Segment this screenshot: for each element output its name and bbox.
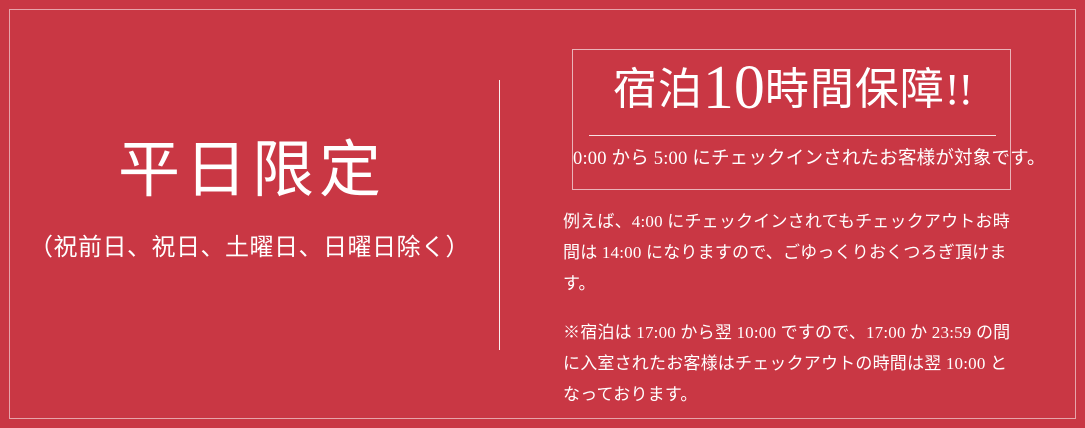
body-paragraph-note: ※宿泊は 17:00 から翌 10:00 ですので、17:00 か 23:59 … [563, 317, 1018, 410]
guarantee-body-copy: 例えば、4:00 にチェックインされてもチェックアウトお時間は 14:00 にな… [563, 206, 1018, 410]
promotion-banner: 平日限定 （祝前日、祝日、土曜日、日曜日除く） 宿泊10時間保障!! 0:00 … [0, 0, 1085, 428]
guarantee-title-exclamation: !! [945, 65, 972, 114]
guarantee-box: 宿泊10時間保障!! 0:00 から 5:00 にチェックインされたお客様が対象… [572, 49, 1011, 190]
guarantee-title-prefix: 宿泊 [613, 65, 703, 114]
guarantee-hours-number: 10 [703, 54, 765, 122]
weekday-heading: 平日限定 [0, 138, 499, 205]
guarantee-title-suffix: 時間保障 [765, 65, 945, 114]
guarantee-title: 宿泊10時間保障!! [573, 54, 1012, 122]
weekday-panel: 平日限定 （祝前日、祝日、土曜日、日曜日除く） [0, 0, 499, 428]
guarantee-divider-rule [589, 135, 996, 136]
weekday-exclusion-note: （祝前日、祝日、土曜日、日曜日除く） [0, 232, 499, 264]
stay-guarantee-panel: 宿泊10時間保障!! 0:00 から 5:00 にチェックインされたお客様が対象… [500, 0, 1085, 428]
body-paragraph-example: 例えば、4:00 にチェックインされてもチェックアウトお時間は 14:00 にな… [563, 206, 1018, 299]
guarantee-subtitle: 0:00 から 5:00 にチェックインされたお客様が対象です。 [573, 146, 1012, 174]
